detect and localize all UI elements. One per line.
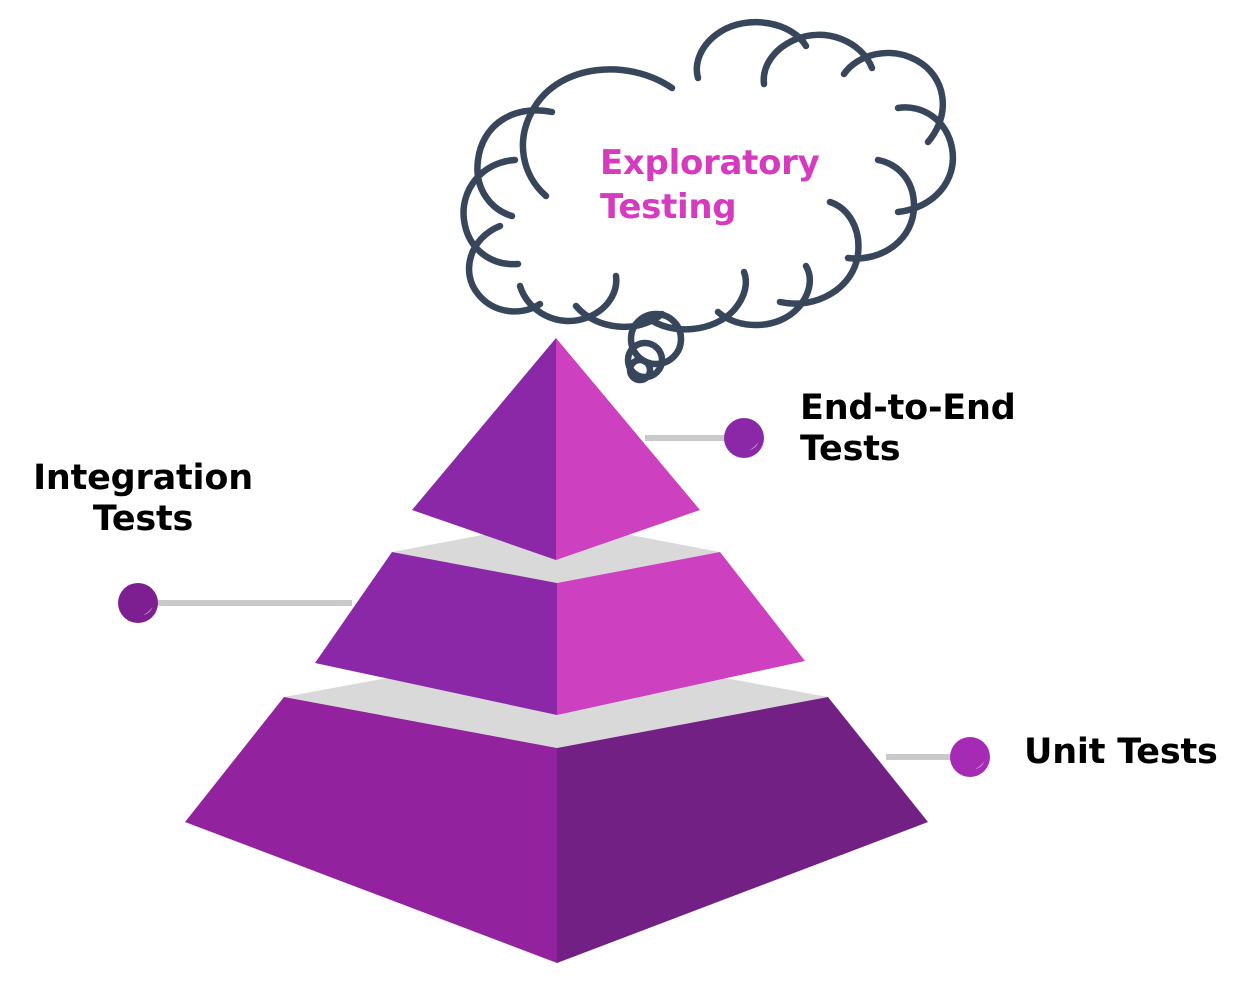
pyramid-diagram-canvas: Exploratory Testing End-to-End Tests Int… xyxy=(0,0,1258,1000)
thought-bubble-text: Exploratory Testing xyxy=(600,142,930,229)
callout-label-unit: Unit Tests xyxy=(1024,732,1218,773)
callout-label-end-to-end: End-to-End Tests xyxy=(800,388,1016,469)
callout-label-integration: Integration Tests xyxy=(18,458,268,539)
